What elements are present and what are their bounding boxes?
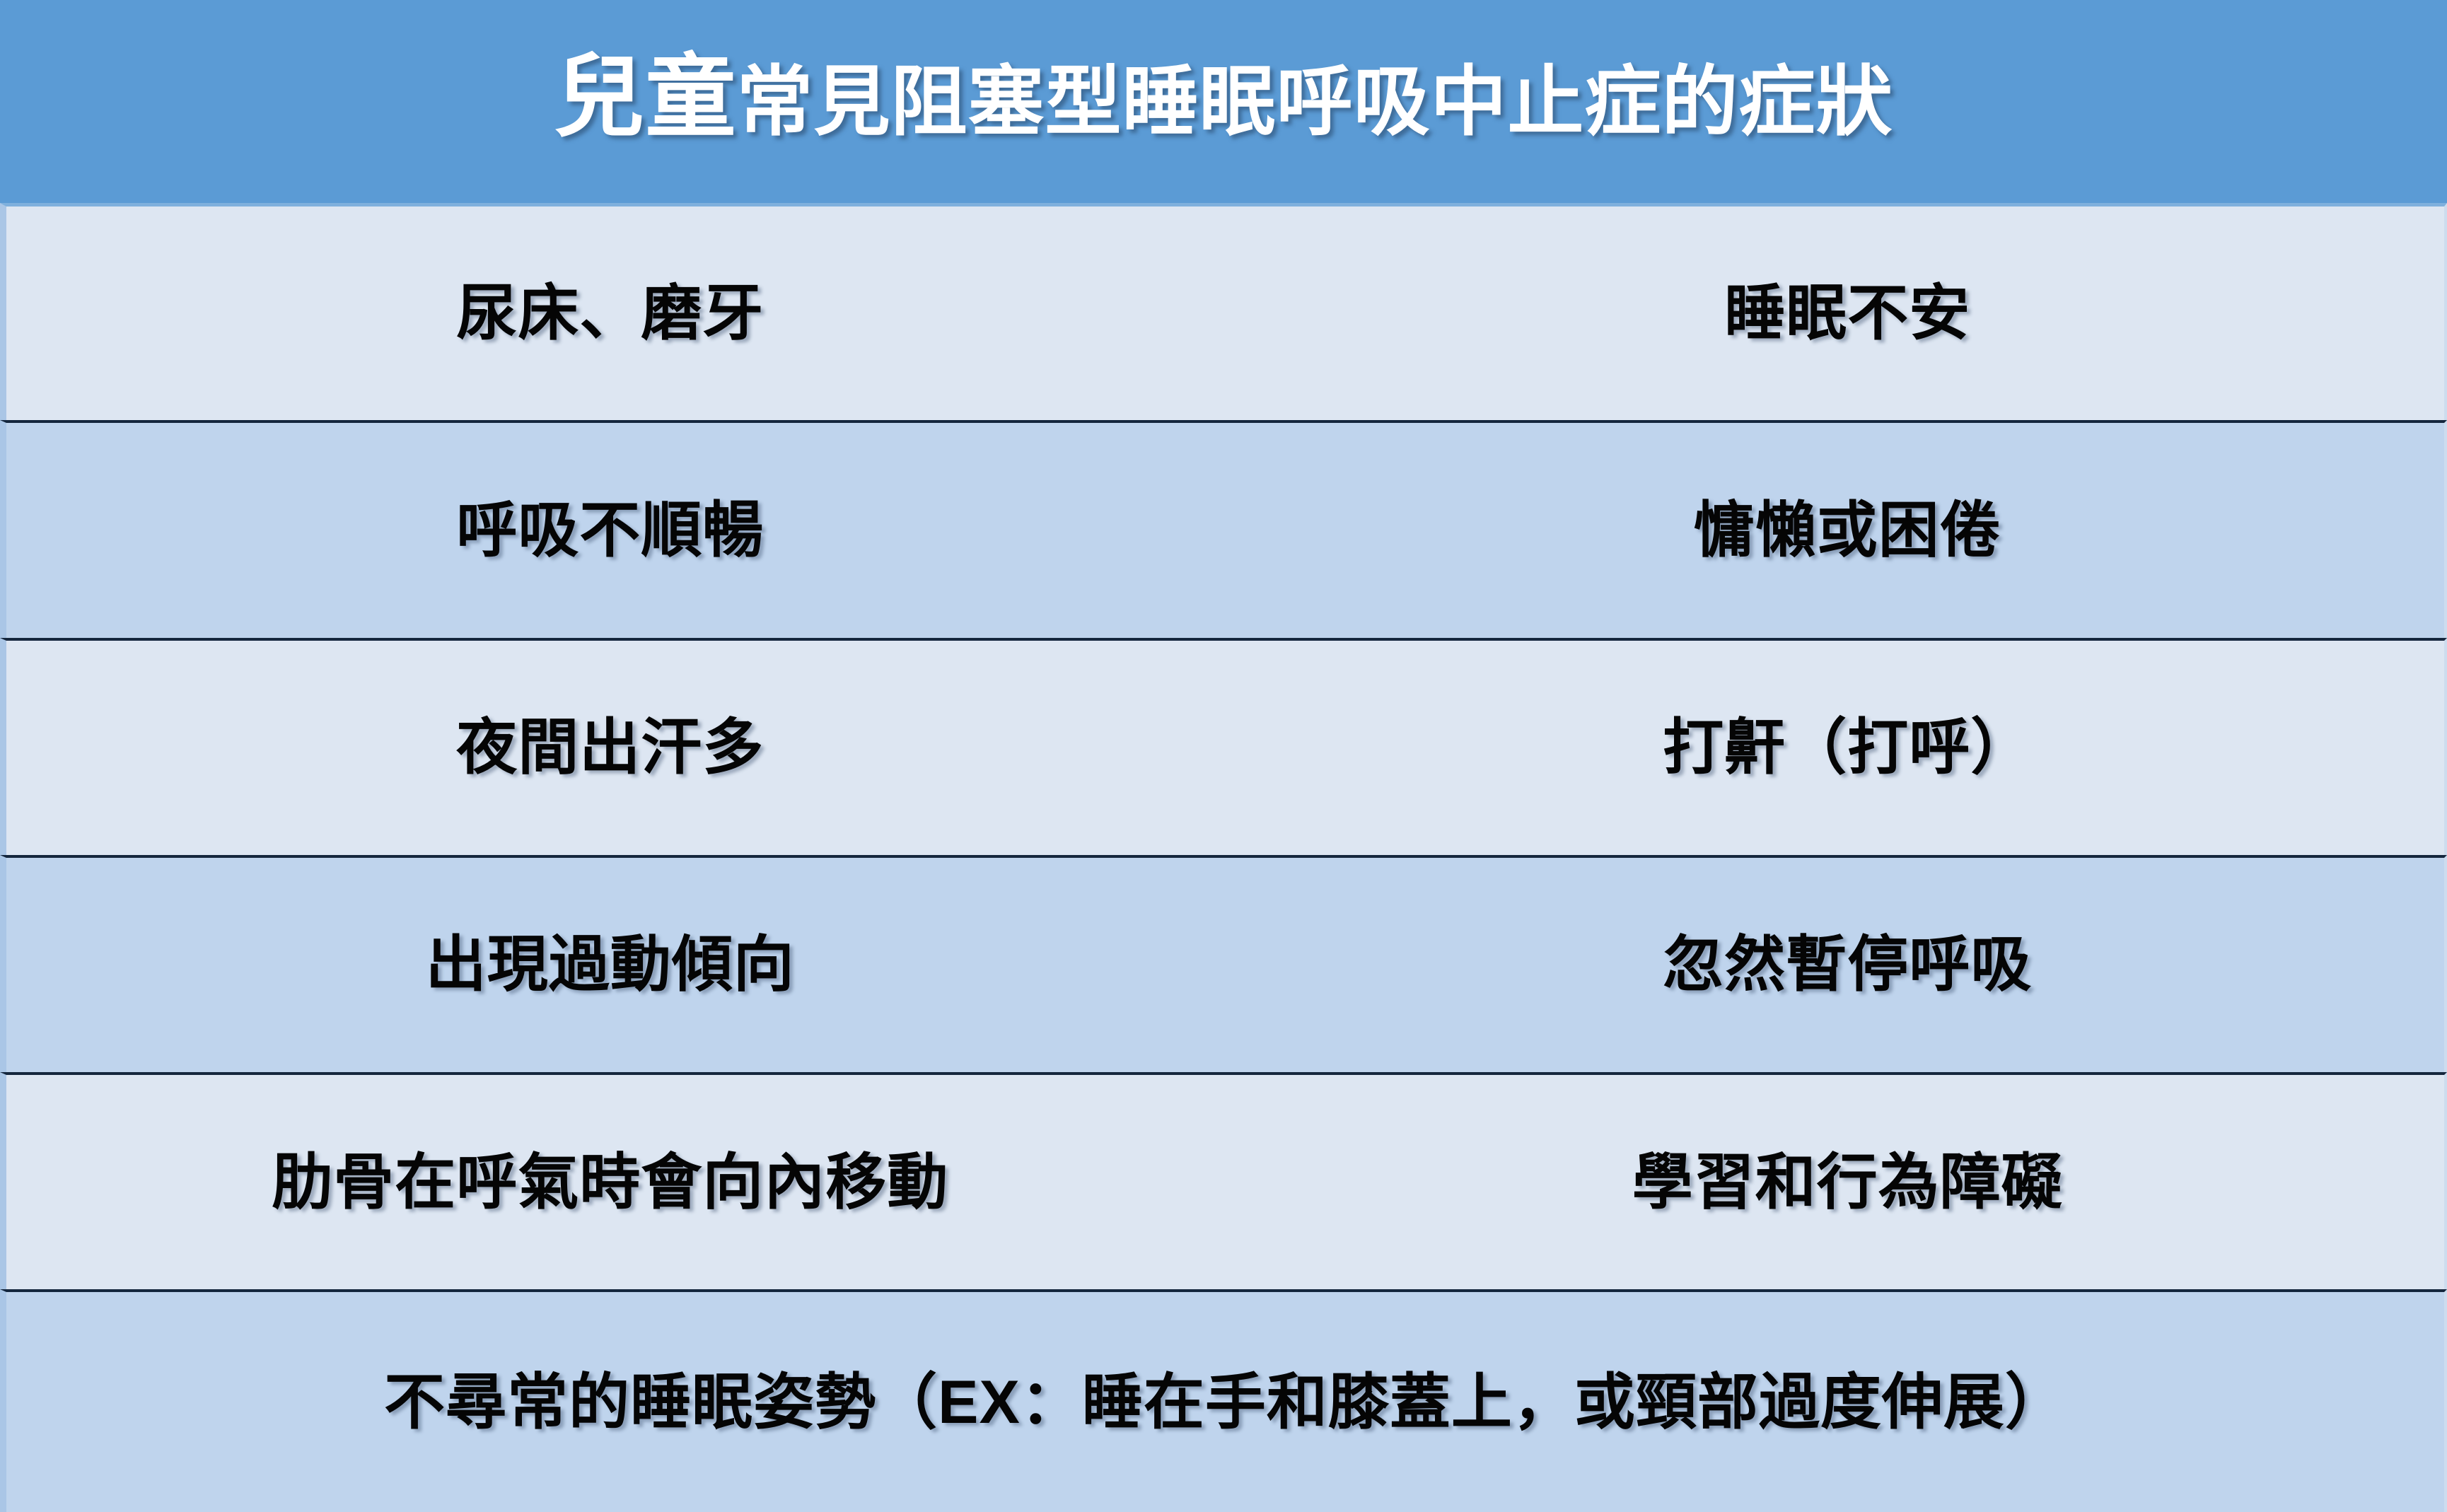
slide-canvas: 兒童 常見阻塞型睡眠呼吸中止症的症狀 尿床、磨牙 睡眠不安 呼吸不順暢 慵懶或困… bbox=[0, 0, 2447, 1507]
table-cell-full-width: 不尋常的睡眠姿勢（EX：睡在手和膝蓋上，或頸部過度伸展） bbox=[6, 1292, 2444, 1512]
table-cell-right: 學習和行為障礙 bbox=[1238, 1075, 2447, 1289]
symptom-label: 打鼾（打呼） bbox=[1663, 714, 2032, 781]
table-cell-left: 夜間出汗多 bbox=[1, 641, 1220, 855]
table-row: 呼吸不順暢 慵懶或困倦 bbox=[0, 420, 2447, 637]
table-row: 肋骨在呼氣時會向內移動 學習和行為障礙 bbox=[0, 1072, 2447, 1289]
symptom-label: 尿床、磨牙 bbox=[456, 280, 764, 347]
symptom-label: 肋骨在呼氣時會向內移動 bbox=[272, 1149, 948, 1216]
page-title: 兒童 常見阻塞型睡眠呼吸中止症的症狀 bbox=[554, 52, 1893, 143]
table-cell-left: 出現過動傾向 bbox=[1, 858, 1220, 1072]
page-title-lead: 兒童 bbox=[554, 52, 736, 143]
symptoms-table: 尿床、磨牙 睡眠不安 呼吸不順暢 慵懶或困倦 夜間出汗多 打鼾（打呼） bbox=[0, 203, 2447, 1507]
symptom-label: 睡眠不安 bbox=[1724, 280, 1970, 347]
table-row: 夜間出汗多 打鼾（打呼） bbox=[0, 638, 2447, 855]
symptom-label: 出現過動傾向 bbox=[426, 931, 795, 999]
page-title-rest: 常見阻塞型睡眠呼吸中止症的症狀 bbox=[737, 64, 1893, 140]
table-cell-left: 肋骨在呼氣時會向內移動 bbox=[1, 1075, 1220, 1289]
table-cell-right: 忽然暫停呼吸 bbox=[1238, 858, 2447, 1072]
table-row-full-width: 不尋常的睡眠姿勢（EX：睡在手和膝蓋上，或頸部過度伸展） bbox=[0, 1289, 2447, 1512]
symptom-label: 慵懶或困倦 bbox=[1694, 497, 2001, 564]
table-cell-right: 睡眠不安 bbox=[1238, 207, 2447, 420]
table-row: 尿床、磨牙 睡眠不安 bbox=[0, 203, 2447, 420]
table-cell-right: 打鼾（打呼） bbox=[1238, 641, 2447, 855]
symptom-label: 呼吸不順暢 bbox=[456, 497, 764, 564]
symptom-label: 夜間出汗多 bbox=[456, 714, 764, 781]
symptom-label: 學習和行為障礙 bbox=[1632, 1149, 2063, 1216]
table-cell-left: 呼吸不順暢 bbox=[1, 423, 1220, 637]
table-row: 出現過動傾向 忽然暫停呼吸 bbox=[0, 855, 2447, 1072]
header-bar: 兒童 常見阻塞型睡眠呼吸中止症的症狀 bbox=[0, 0, 2447, 203]
symptom-label: 忽然暫停呼吸 bbox=[1663, 931, 2032, 999]
table-cell-right: 慵懶或困倦 bbox=[1238, 423, 2447, 637]
table-cell-left: 尿床、磨牙 bbox=[1, 207, 1220, 420]
symptom-label: 不尋常的睡眠姿勢（EX：睡在手和膝蓋上，或頸部過度伸展） bbox=[384, 1369, 2067, 1436]
